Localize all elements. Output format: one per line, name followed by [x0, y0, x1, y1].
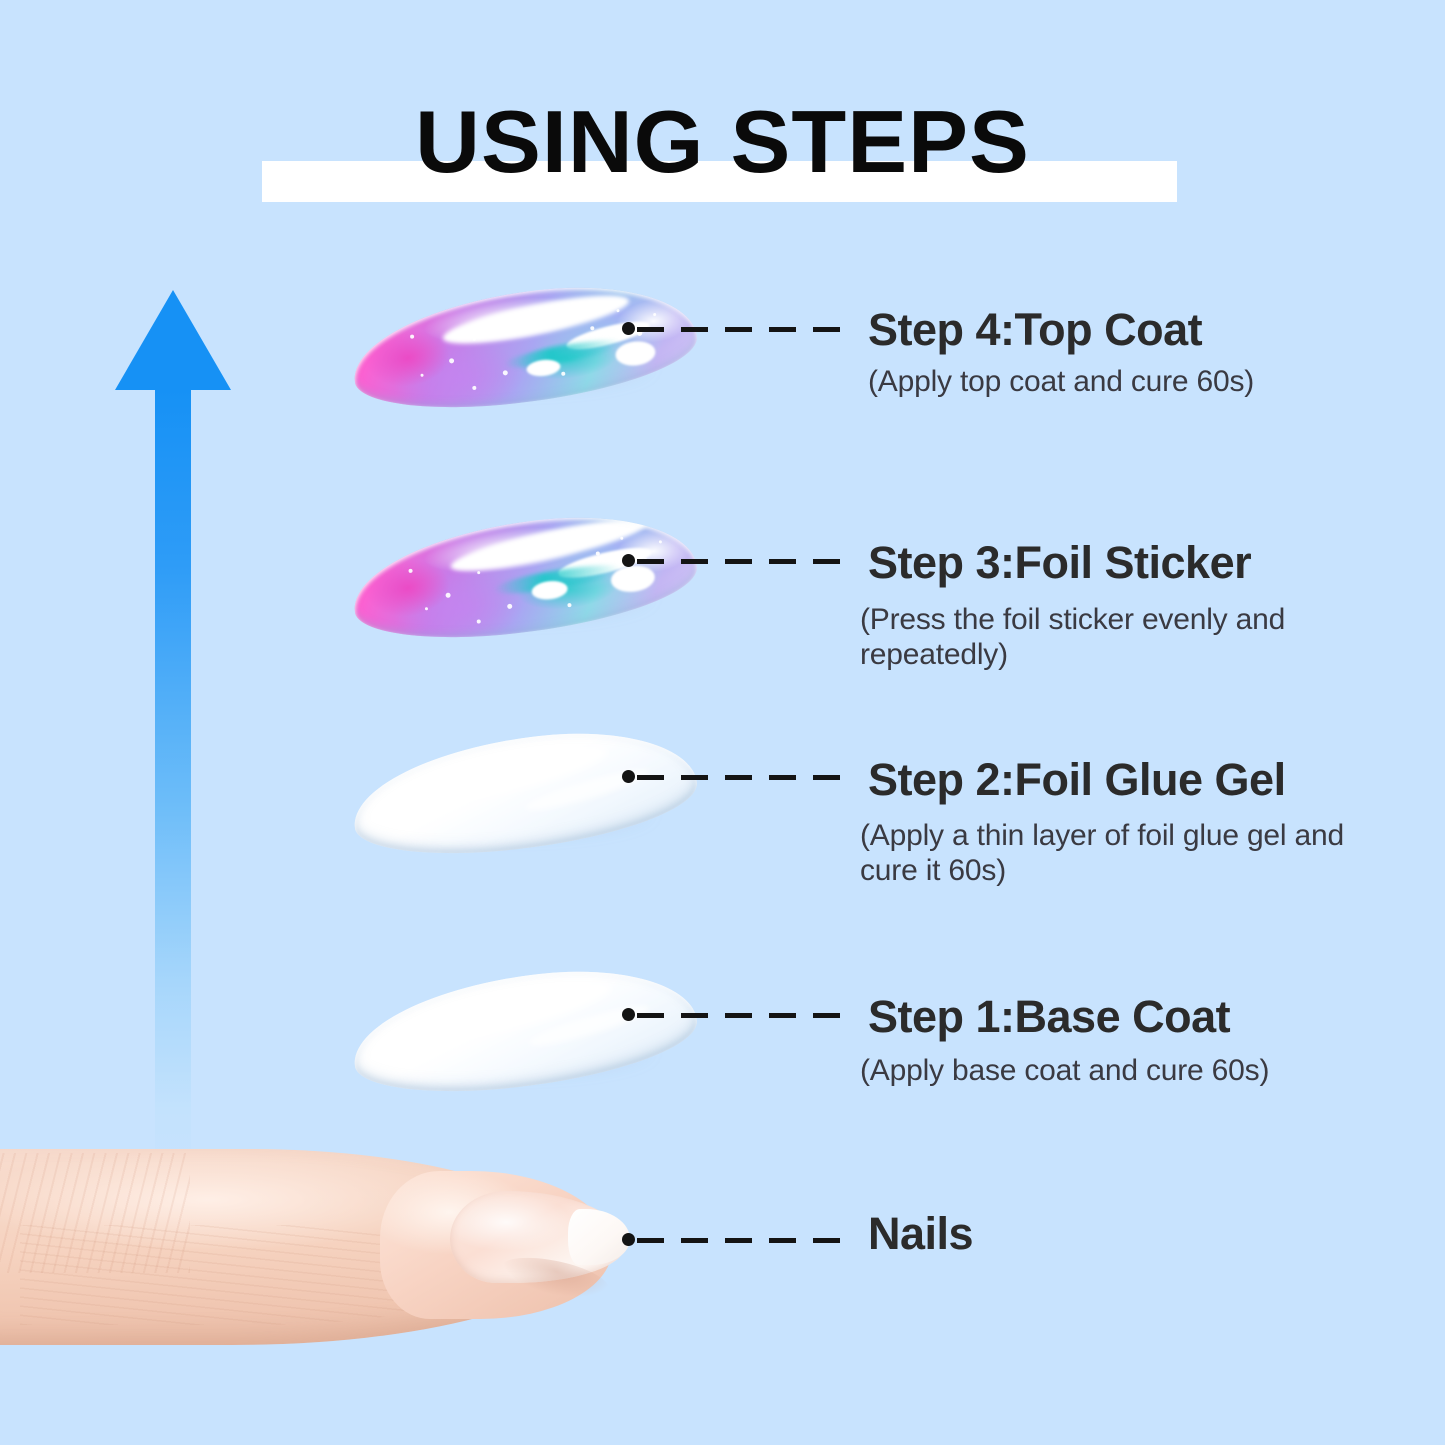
connector-nails	[622, 1233, 844, 1247]
connector-step-4	[622, 322, 844, 332]
connector-dot	[622, 1008, 635, 1021]
step-1-heading: Step 1:Base Coat	[868, 992, 1230, 1042]
connector-dot	[622, 322, 635, 335]
page-title: USING STEPS	[0, 96, 1445, 188]
nails-label: Nails	[868, 1209, 973, 1259]
nail-image-step-4	[352, 292, 697, 422]
nail-rim	[347, 273, 702, 421]
nail-rim	[347, 503, 702, 651]
connector-dashes	[637, 1238, 842, 1243]
connector-dot	[622, 1233, 635, 1246]
nail-image-step-1	[352, 976, 697, 1106]
nail-free-edge	[568, 1209, 630, 1265]
connector-step-1	[622, 1008, 844, 1018]
nail-image-step-3	[352, 522, 697, 652]
connector-dashes	[637, 559, 842, 564]
step-4-subtext: (Apply top coat and cure 60s)	[868, 364, 1348, 399]
connector-step-3	[622, 554, 844, 564]
step-1-subtext: (Apply base coat and cure 60s)	[860, 1053, 1330, 1088]
connector-dashes	[637, 327, 842, 332]
infographic-canvas: USING STEPS	[0, 0, 1445, 1445]
nail-rim	[347, 957, 702, 1105]
step-3-subtext: (Press the foil sticker evenly and repea…	[860, 602, 1330, 672]
connector-dashes	[637, 1013, 842, 1018]
arrow-shaft	[155, 389, 191, 1189]
arrow-head-icon	[115, 290, 231, 390]
step-2-heading: Step 2:Foil Glue Gel	[868, 755, 1286, 805]
upward-progress-arrow	[110, 290, 240, 1190]
nail-rim	[347, 719, 702, 867]
connector-dot	[622, 770, 635, 783]
connector-step-2	[622, 770, 844, 780]
connector-dot	[622, 554, 635, 567]
step-2-subtext: (Apply a thin layer of foil glue gel and…	[860, 818, 1400, 888]
fingertip-image	[0, 1135, 660, 1385]
step-3-heading: Step 3:Foil Sticker	[868, 538, 1251, 588]
step-4-heading: Step 4:Top Coat	[868, 305, 1202, 355]
nail-image-step-2	[352, 738, 697, 868]
connector-dashes	[637, 775, 842, 780]
